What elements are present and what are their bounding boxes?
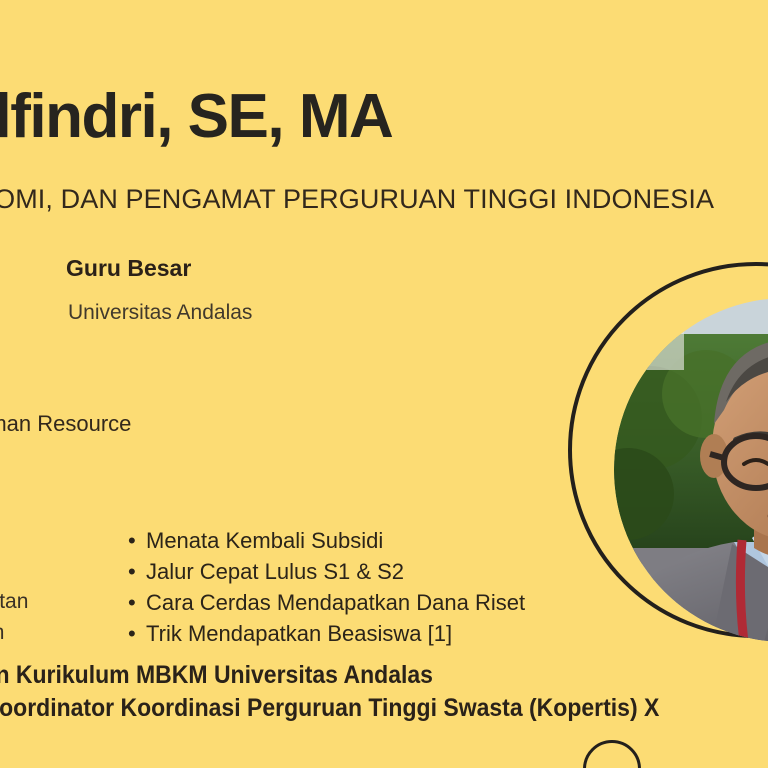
- left-edge-fragment-tick: ,: [0, 306, 2, 330]
- slide-canvas: r. Elfindri, SE, MA R EKONOMI, DAN PENGA…: [0, 0, 768, 768]
- footer-line-2: bg Koordinator Koordinasi Perguruan Ting…: [0, 694, 659, 723]
- role-title: Guru Besar: [66, 255, 191, 282]
- left-column-fragment-2: esehatan: [0, 590, 28, 614]
- list-item: Cara Cerdas Mendapatkan Dana Riset: [146, 587, 525, 618]
- background-subtext: f Human Resource: [0, 411, 131, 437]
- list-item: Menata Kembali Subsidi: [146, 525, 525, 556]
- left-column-fragment-3: erjaan: [0, 621, 4, 645]
- footer-line-1: turan Kurikulum MBKM Universitas Andalas: [0, 661, 433, 690]
- topics-list: Menata Kembali Subsidi Jalur Cepat Lulus…: [128, 525, 525, 649]
- role-institution: Universitas Andalas: [68, 301, 252, 325]
- page-title: r. Elfindri, SE, MA: [0, 84, 392, 149]
- list-item: Jalur Cepat Lulus S1 & S2: [146, 556, 525, 587]
- page-subtitle: R EKONOMI, DAN PENGAMAT PERGURUAN TINGGI…: [0, 184, 714, 215]
- decorative-small-circle: [583, 740, 641, 768]
- list-item: Trik Mendapatkan Beasiswa [1]: [146, 618, 525, 649]
